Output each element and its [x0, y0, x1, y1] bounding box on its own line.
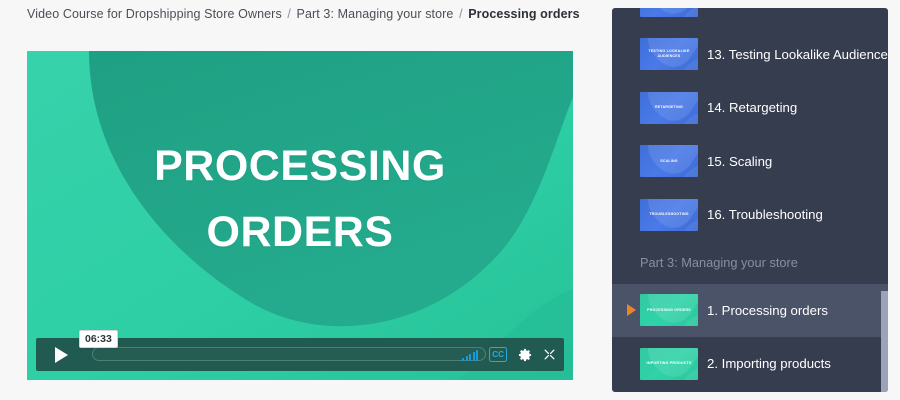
video-player[interactable]: PROCESSING ORDERS CC: [27, 51, 573, 380]
breadcrumb-item-part[interactable]: Part 3: Managing your store: [297, 7, 454, 21]
lesson-thumbnail-caption: SCALING: [640, 145, 698, 177]
sidebar-item[interactable]: TESTING LOOKALIKE AUDIENCES13. Testing L…: [612, 28, 888, 82]
gear-icon[interactable]: [518, 348, 532, 362]
sidebar-scrollbar[interactable]: [881, 8, 888, 392]
lesson-thumbnail: TROUBLESHOOTING: [640, 199, 698, 231]
lesson-list: FACEBOOK INTERESTS TESTING12. Facebook I…: [612, 8, 888, 391]
lesson-thumbnail: TESTING LOOKALIKE AUDIENCES: [640, 38, 698, 70]
captions-icon[interactable]: CC: [489, 347, 507, 362]
lesson-thumbnail: PROCESSING ORDERS: [640, 294, 698, 326]
lesson-thumbnail-caption: PROCESSING ORDERS: [640, 294, 698, 326]
lesson-thumbnail: RETARGETING: [640, 92, 698, 124]
lesson-thumbnail: IMPORTING PRODUCTS: [640, 348, 698, 380]
breadcrumb: Video Course for Dropshipping Store Owne…: [27, 6, 580, 22]
lesson-sidebar[interactable]: FACEBOOK INTERESTS TESTING12. Facebook I…: [612, 8, 888, 392]
sidebar-item-label: 16. Troubleshooting: [707, 206, 823, 223]
sidebar-item[interactable]: TROUBLESHOOTING16. Troubleshooting: [612, 188, 888, 242]
lesson-thumbnail-caption: TROUBLESHOOTING: [640, 199, 698, 231]
lesson-thumbnail: SCALING: [640, 145, 698, 177]
play-triangle-icon: [55, 347, 68, 363]
sidebar-item-label: 1. Processing orders: [707, 302, 828, 319]
sidebar-item-active[interactable]: PROCESSING ORDERS1. Processing orders: [612, 284, 888, 338]
sidebar-section-header: Part 3: Managing your store: [612, 242, 888, 284]
breadcrumb-separator: /: [457, 7, 465, 21]
fullscreen-icon[interactable]: [543, 348, 556, 361]
lesson-thumbnail-caption: RETARGETING: [640, 92, 698, 124]
sidebar-item-label: 2. Importing products: [707, 355, 831, 372]
progress-bar[interactable]: [92, 347, 486, 361]
time-tooltip: 06:33: [79, 330, 118, 349]
control-icons: CC: [462, 338, 556, 371]
volume-icon[interactable]: [462, 348, 478, 361]
play-marker-icon: [627, 304, 636, 316]
lesson-thumbnail: FACEBOOK INTERESTS TESTING: [640, 8, 698, 17]
lesson-thumbnail-caption: TESTING LOOKALIKE AUDIENCES: [640, 38, 698, 70]
lesson-thumbnail-caption: IMPORTING PRODUCTS: [640, 348, 698, 380]
breadcrumb-item-course[interactable]: Video Course for Dropshipping Store Owne…: [27, 7, 282, 21]
play-button[interactable]: [36, 338, 84, 371]
sidebar-item-label: 12. Facebook Interests Testing: [707, 8, 886, 9]
breadcrumb-separator: /: [285, 7, 293, 21]
sidebar-item[interactable]: IMPORTING PRODUCTS2. Importing products: [612, 337, 888, 391]
video-title-line-2: ORDERS: [207, 208, 394, 256]
sidebar-item-label: 14. Retargeting: [707, 99, 797, 116]
sidebar-item[interactable]: SCALING15. Scaling: [612, 135, 888, 189]
video-title-line-1: PROCESSING: [154, 142, 446, 190]
page-root: Video Course for Dropshipping Store Owne…: [0, 0, 900, 400]
sidebar-item-label: 15. Scaling: [707, 153, 772, 170]
sidebar-scrollbar-thumb[interactable]: [881, 291, 888, 392]
sidebar-item[interactable]: RETARGETING14. Retargeting: [612, 81, 888, 135]
sidebar-item[interactable]: FACEBOOK INTERESTS TESTING12. Facebook I…: [612, 8, 888, 28]
sidebar-item-label: 13. Testing Lookalike Audiences: [707, 46, 888, 63]
lesson-thumbnail-caption: FACEBOOK INTERESTS TESTING: [640, 8, 698, 17]
breadcrumb-item-current: Processing orders: [468, 7, 579, 21]
